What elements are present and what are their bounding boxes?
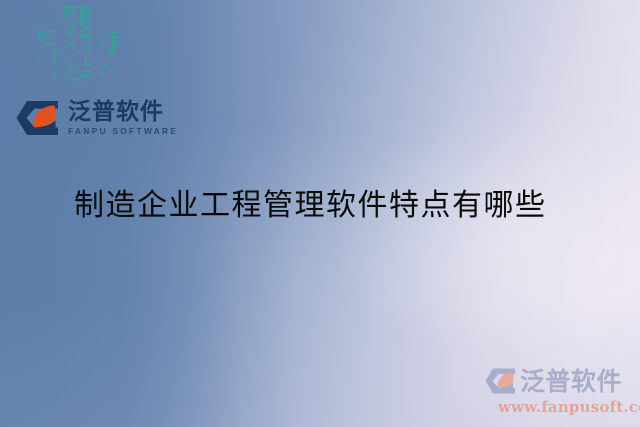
fanpu-logo-mark-icon bbox=[14, 97, 60, 139]
watermark-logo-row: 泛普软件 bbox=[484, 366, 640, 396]
watermark-logo-mark-icon bbox=[484, 366, 516, 396]
promo-banner: 泛普软件 FANPU SOFTWARE 制造企业工程管理软件特点有哪些 泛普软件… bbox=[0, 0, 640, 427]
corner-watermark: 泛普软件 www.fanpusoft.com bbox=[484, 366, 640, 415]
brand-name-en: FANPU SOFTWARE bbox=[68, 127, 178, 136]
pixel-column bbox=[100, 32, 122, 86]
brand-logo-text: 泛普软件 FANPU SOFTWARE bbox=[68, 100, 178, 136]
watermark-brand-name: 泛普软件 bbox=[520, 369, 622, 394]
watermark-url: www.fanpusoft.com bbox=[498, 400, 640, 415]
pixel-mosaic-skyline-decoration bbox=[38, 4, 130, 86]
headline-title: 制造企业工程管理软件特点有哪些 bbox=[74, 186, 547, 227]
pixel-column bbox=[38, 30, 60, 86]
brand-logo: 泛普软件 FANPU SOFTWARE bbox=[14, 96, 178, 140]
pixel-column bbox=[64, 6, 94, 86]
brand-name-cn: 泛普软件 bbox=[68, 100, 178, 124]
